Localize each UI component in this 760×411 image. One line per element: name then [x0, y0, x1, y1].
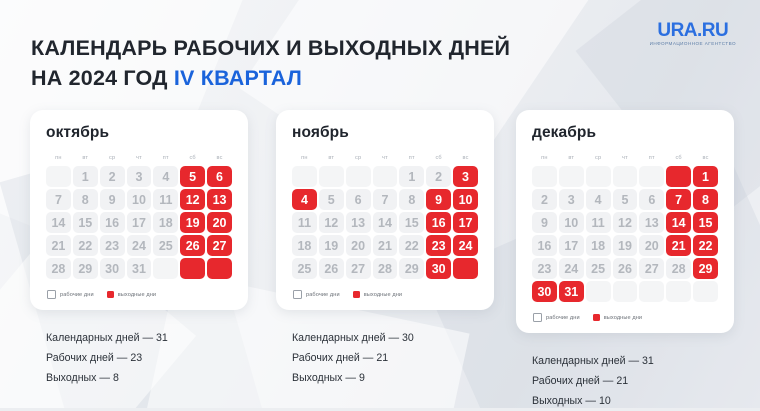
ura-ru-logo[interactable]: URA.RU Информационное агентство	[650, 21, 736, 47]
calendar-week-row: 28293031	[46, 258, 232, 279]
calendar-week-row: 23242526272829	[532, 258, 718, 279]
weekday-header-сб: сб	[666, 153, 691, 164]
day-cell-5[interactable]: 5	[613, 189, 638, 210]
day-cell-20[interactable]: 20	[346, 235, 371, 256]
day-cell-empty	[453, 258, 478, 279]
day-cell-15[interactable]: 15	[693, 212, 718, 233]
day-cell-empty	[666, 281, 691, 302]
logo-tagline: Информационное агентство	[650, 42, 736, 47]
weekday-header-сб: сб	[180, 153, 205, 164]
day-cell-5[interactable]: 5	[319, 189, 344, 210]
day-cell-17[interactable]: 17	[559, 235, 584, 256]
day-cell-22[interactable]: 22	[399, 235, 424, 256]
day-cell-25[interactable]: 25	[292, 258, 317, 279]
weekday-header-пт: пт	[399, 153, 424, 164]
day-cell-empty	[613, 166, 638, 187]
weekday-header-вт: вт	[559, 153, 584, 164]
day-cell-empty	[666, 166, 691, 187]
day-cell-16[interactable]: 16	[100, 212, 125, 233]
calendar-week-row: 3031	[532, 281, 718, 302]
weekday-header-row: пнвтсрчтптсбвс	[292, 153, 478, 164]
weekday-header-ср: ср	[100, 153, 125, 164]
day-cell-empty	[46, 166, 71, 187]
day-cell-29[interactable]: 29	[399, 258, 424, 279]
calendar-week-row: 2345678	[532, 189, 718, 210]
legend-item-holidays: выходные дни	[353, 291, 402, 298]
day-cell-8[interactable]: 8	[73, 189, 98, 210]
day-cell-23[interactable]: 23	[426, 235, 451, 256]
day-cell-26[interactable]: 26	[180, 235, 205, 256]
legend-item-holidays: выходные дни	[107, 291, 156, 298]
calendar-week-row: 16171819202122	[532, 235, 718, 256]
day-cell-empty	[639, 281, 664, 302]
holiday-swatch-icon	[353, 291, 360, 298]
calendar-grid: пнвтсрчтптсбвс12345678910111213141516171…	[530, 151, 720, 304]
calendar-week-row: 123456	[46, 166, 232, 187]
calendar-week-row: 9101112131415	[532, 212, 718, 233]
weekday-header-пн: пн	[532, 153, 557, 164]
day-cell-14[interactable]: 14	[666, 212, 691, 233]
weekday-header-вс: вс	[453, 153, 478, 164]
day-cell-empty	[180, 258, 205, 279]
day-cell-9[interactable]: 9	[532, 212, 557, 233]
month-block-ноябрь: ноябрьпнвтсрчтптсбвс12345678910111213141…	[276, 110, 494, 388]
day-cell-5[interactable]: 5	[180, 166, 205, 187]
day-cell-17[interactable]: 17	[453, 212, 478, 233]
holiday-swatch-icon	[107, 291, 114, 298]
workday-swatch-icon	[47, 290, 56, 299]
legend-label: рабочие дни	[60, 292, 94, 298]
day-cell-empty	[586, 281, 611, 302]
day-cell-26[interactable]: 26	[613, 258, 638, 279]
day-cell-18[interactable]: 18	[586, 235, 611, 256]
day-cell-11[interactable]: 11	[153, 189, 178, 210]
day-cell-28[interactable]: 28	[46, 258, 71, 279]
calendar-grid: пнвтсрчтптсбвс12345678910111213141516171…	[44, 151, 234, 281]
month-block-декабрь: декабрьпнвтсрчтптсбвс1234567891011121314…	[516, 110, 734, 411]
day-cell-23[interactable]: 23	[100, 235, 125, 256]
calendar-week-row: 18192021222324	[292, 235, 478, 256]
month-name: декабрь	[532, 124, 720, 142]
day-cell-empty	[639, 166, 664, 187]
day-cell-30[interactable]: 30	[532, 281, 557, 302]
day-cell-19[interactable]: 19	[180, 212, 205, 233]
legend-item-workdays: рабочие дни	[47, 290, 94, 299]
calendar-week-row: 78910111213	[46, 189, 232, 210]
day-cell-empty	[207, 258, 232, 279]
legend-item-workdays: рабочие дни	[293, 290, 340, 299]
day-cell-31[interactable]: 31	[559, 281, 584, 302]
page-title-line1: КАЛЕНДАРЬ РАБОЧИХ И ВЫХОДНЫХ ДНЕЙ	[31, 36, 510, 60]
calendar-week-row: 14151617181920	[46, 212, 232, 233]
day-cell-13[interactable]: 13	[207, 189, 232, 210]
workday-swatch-icon	[293, 290, 302, 299]
day-cell-7[interactable]: 7	[373, 189, 398, 210]
weekday-header-пт: пт	[639, 153, 664, 164]
page-title: КАЛЕНДАРЬ РАБОЧИХ И ВЫХОДНЫХ ДНЕЙ НА 202…	[31, 33, 601, 93]
weekday-header-пт: пт	[153, 153, 178, 164]
stat-holiday-days: Выходных — 9	[292, 368, 494, 388]
day-cell-3[interactable]: 3	[559, 189, 584, 210]
day-cell-18[interactable]: 18	[292, 235, 317, 256]
day-cell-2[interactable]: 2	[426, 166, 451, 187]
legend-label: выходные дни	[604, 315, 642, 321]
day-cell-30[interactable]: 30	[426, 258, 451, 279]
day-cell-20[interactable]: 20	[639, 235, 664, 256]
logo-wordmark: URA.RU	[650, 21, 736, 40]
month-stats: Календарных дней — 30Рабочих дней — 21Вы…	[292, 328, 494, 388]
legend: рабочие днивыходные дни	[293, 290, 480, 299]
day-cell-12[interactable]: 12	[613, 212, 638, 233]
day-cell-empty	[693, 281, 718, 302]
day-cell-empty	[559, 166, 584, 187]
day-cell-6[interactable]: 6	[207, 166, 232, 187]
weekday-header-вс: вс	[207, 153, 232, 164]
day-cell-29[interactable]: 29	[693, 258, 718, 279]
day-cell-3[interactable]: 3	[453, 166, 478, 187]
legend-label: рабочие дни	[306, 292, 340, 298]
day-cell-18[interactable]: 18	[153, 212, 178, 233]
day-cell-empty	[153, 258, 178, 279]
day-cell-empty	[346, 166, 371, 187]
day-cell-13[interactable]: 13	[346, 212, 371, 233]
day-cell-27[interactable]: 27	[639, 258, 664, 279]
day-cell-30[interactable]: 30	[100, 258, 125, 279]
holiday-swatch-icon	[593, 314, 600, 321]
day-cell-4[interactable]: 4	[292, 189, 317, 210]
day-cell-2[interactable]: 2	[532, 189, 557, 210]
day-cell-21[interactable]: 21	[666, 235, 691, 256]
weekday-header-ср: ср	[586, 153, 611, 164]
day-cell-14[interactable]: 14	[373, 212, 398, 233]
weekday-header-чт: чт	[613, 153, 638, 164]
day-cell-25[interactable]: 25	[153, 235, 178, 256]
day-cell-22[interactable]: 22	[73, 235, 98, 256]
legend-label: рабочие дни	[546, 315, 580, 321]
calendar-week-row: 123	[292, 166, 478, 187]
day-cell-22[interactable]: 22	[693, 235, 718, 256]
day-cell-11[interactable]: 11	[586, 212, 611, 233]
weekday-header-вт: вт	[73, 153, 98, 164]
day-cell-13[interactable]: 13	[639, 212, 664, 233]
day-cell-10[interactable]: 10	[127, 189, 152, 210]
stat-calendar-days: Календарных дней — 30	[292, 328, 494, 348]
day-cell-2[interactable]: 2	[100, 166, 125, 187]
weekday-header-пн: пн	[46, 153, 71, 164]
day-cell-24[interactable]: 24	[559, 258, 584, 279]
calendar-week-row: 45678910	[292, 189, 478, 210]
month-stats: Календарных дней — 31Рабочих дней — 23Вы…	[46, 328, 248, 388]
day-cell-16[interactable]: 16	[532, 235, 557, 256]
day-cell-27[interactable]: 27	[346, 258, 371, 279]
day-cell-empty	[532, 166, 557, 187]
stat-work-days: Рабочих дней — 23	[46, 348, 248, 368]
weekday-header-чт: чт	[373, 153, 398, 164]
day-cell-9[interactable]: 9	[426, 189, 451, 210]
day-cell-1[interactable]: 1	[73, 166, 98, 187]
day-cell-10[interactable]: 10	[453, 189, 478, 210]
stat-calendar-days: Календарных дней — 31	[46, 328, 248, 348]
page-title-line2: НА 2024 ГОД	[31, 66, 174, 90]
day-cell-17[interactable]: 17	[127, 212, 152, 233]
weekday-header-row: пнвтсрчтптсбвс	[46, 153, 232, 164]
weekday-header-сб: сб	[426, 153, 451, 164]
weekday-header-вс: вс	[693, 153, 718, 164]
day-cell-1[interactable]: 1	[693, 166, 718, 187]
day-cell-6[interactable]: 6	[639, 189, 664, 210]
legend-label: выходные дни	[118, 292, 156, 298]
day-cell-empty	[319, 166, 344, 187]
day-cell-14[interactable]: 14	[46, 212, 71, 233]
day-cell-24[interactable]: 24	[127, 235, 152, 256]
day-cell-28[interactable]: 28	[373, 258, 398, 279]
day-cell-4[interactable]: 4	[153, 166, 178, 187]
day-cell-9[interactable]: 9	[100, 189, 125, 210]
day-cell-empty	[292, 166, 317, 187]
day-cell-15[interactable]: 15	[399, 212, 424, 233]
header: КАЛЕНДАРЬ РАБОЧИХ И ВЫХОДНЫХ ДНЕЙ НА 202…	[0, 0, 760, 92]
page-title-quarter: IV КВАРТАЛ	[174, 66, 302, 90]
day-cell-20[interactable]: 20	[207, 212, 232, 233]
day-cell-26[interactable]: 26	[319, 258, 344, 279]
month-name: октябрь	[46, 124, 234, 142]
day-cell-29[interactable]: 29	[73, 258, 98, 279]
day-cell-10[interactable]: 10	[559, 212, 584, 233]
day-cell-8[interactable]: 8	[399, 189, 424, 210]
day-cell-4[interactable]: 4	[586, 189, 611, 210]
stat-calendar-days: Календарных дней — 31	[532, 351, 734, 371]
legend-item-holidays: выходные дни	[593, 314, 642, 321]
month-card: ноябрьпнвтсрчтптсбвс12345678910111213141…	[276, 110, 494, 310]
month-card: декабрьпнвтсрчтптсбвс1234567891011121314…	[516, 110, 734, 333]
day-cell-15[interactable]: 15	[73, 212, 98, 233]
day-cell-19[interactable]: 19	[319, 235, 344, 256]
workday-swatch-icon	[533, 313, 542, 322]
day-cell-25[interactable]: 25	[586, 258, 611, 279]
calendar-week-row: 1	[532, 166, 718, 187]
calendar-grid: пнвтсрчтптсбвс12345678910111213141516171…	[290, 151, 480, 281]
day-cell-empty	[586, 166, 611, 187]
day-cell-7[interactable]: 7	[46, 189, 71, 210]
month-stats: Календарных дней — 31Рабочих дней — 21Вы…	[532, 351, 734, 411]
day-cell-8[interactable]: 8	[693, 189, 718, 210]
day-cell-empty	[373, 166, 398, 187]
day-cell-empty	[613, 281, 638, 302]
calendar-week-row: 11121314151617	[292, 212, 478, 233]
day-cell-6[interactable]: 6	[346, 189, 371, 210]
legend-label: выходные дни	[364, 292, 402, 298]
stat-work-days: Рабочих дней — 21	[292, 348, 494, 368]
day-cell-28[interactable]: 28	[666, 258, 691, 279]
day-cell-19[interactable]: 19	[613, 235, 638, 256]
weekday-header-чт: чт	[127, 153, 152, 164]
legend-item-workdays: рабочие дни	[533, 313, 580, 322]
day-cell-23[interactable]: 23	[532, 258, 557, 279]
day-cell-16[interactable]: 16	[426, 212, 451, 233]
month-name: ноябрь	[292, 124, 480, 142]
calendar-week-row: 252627282930	[292, 258, 478, 279]
weekday-header-ср: ср	[346, 153, 371, 164]
day-cell-1[interactable]: 1	[399, 166, 424, 187]
month-card: октябрьпнвтсрчтптсбвс1234567891011121314…	[30, 110, 248, 310]
stat-work-days: Рабочих дней — 21	[532, 371, 734, 391]
day-cell-12[interactable]: 12	[319, 212, 344, 233]
day-cell-31[interactable]: 31	[127, 258, 152, 279]
day-cell-24[interactable]: 24	[453, 235, 478, 256]
day-cell-3[interactable]: 3	[127, 166, 152, 187]
legend: рабочие днивыходные дни	[47, 290, 234, 299]
day-cell-21[interactable]: 21	[373, 235, 398, 256]
day-cell-11[interactable]: 11	[292, 212, 317, 233]
calendar-week-row: 21222324252627	[46, 235, 232, 256]
weekday-header-вт: вт	[319, 153, 344, 164]
weekday-header-пн: пн	[292, 153, 317, 164]
stat-holiday-days: Выходных — 8	[46, 368, 248, 388]
day-cell-21[interactable]: 21	[46, 235, 71, 256]
month-block-октябрь: октябрьпнвтсрчтптсбвс1234567891011121314…	[30, 110, 248, 388]
day-cell-7[interactable]: 7	[666, 189, 691, 210]
day-cell-12[interactable]: 12	[180, 189, 205, 210]
weekday-header-row: пнвтсрчтптсбвс	[532, 153, 718, 164]
day-cell-27[interactable]: 27	[207, 235, 232, 256]
legend: рабочие днивыходные дни	[533, 313, 720, 322]
stat-holiday-days: Выходных — 10	[532, 391, 734, 411]
